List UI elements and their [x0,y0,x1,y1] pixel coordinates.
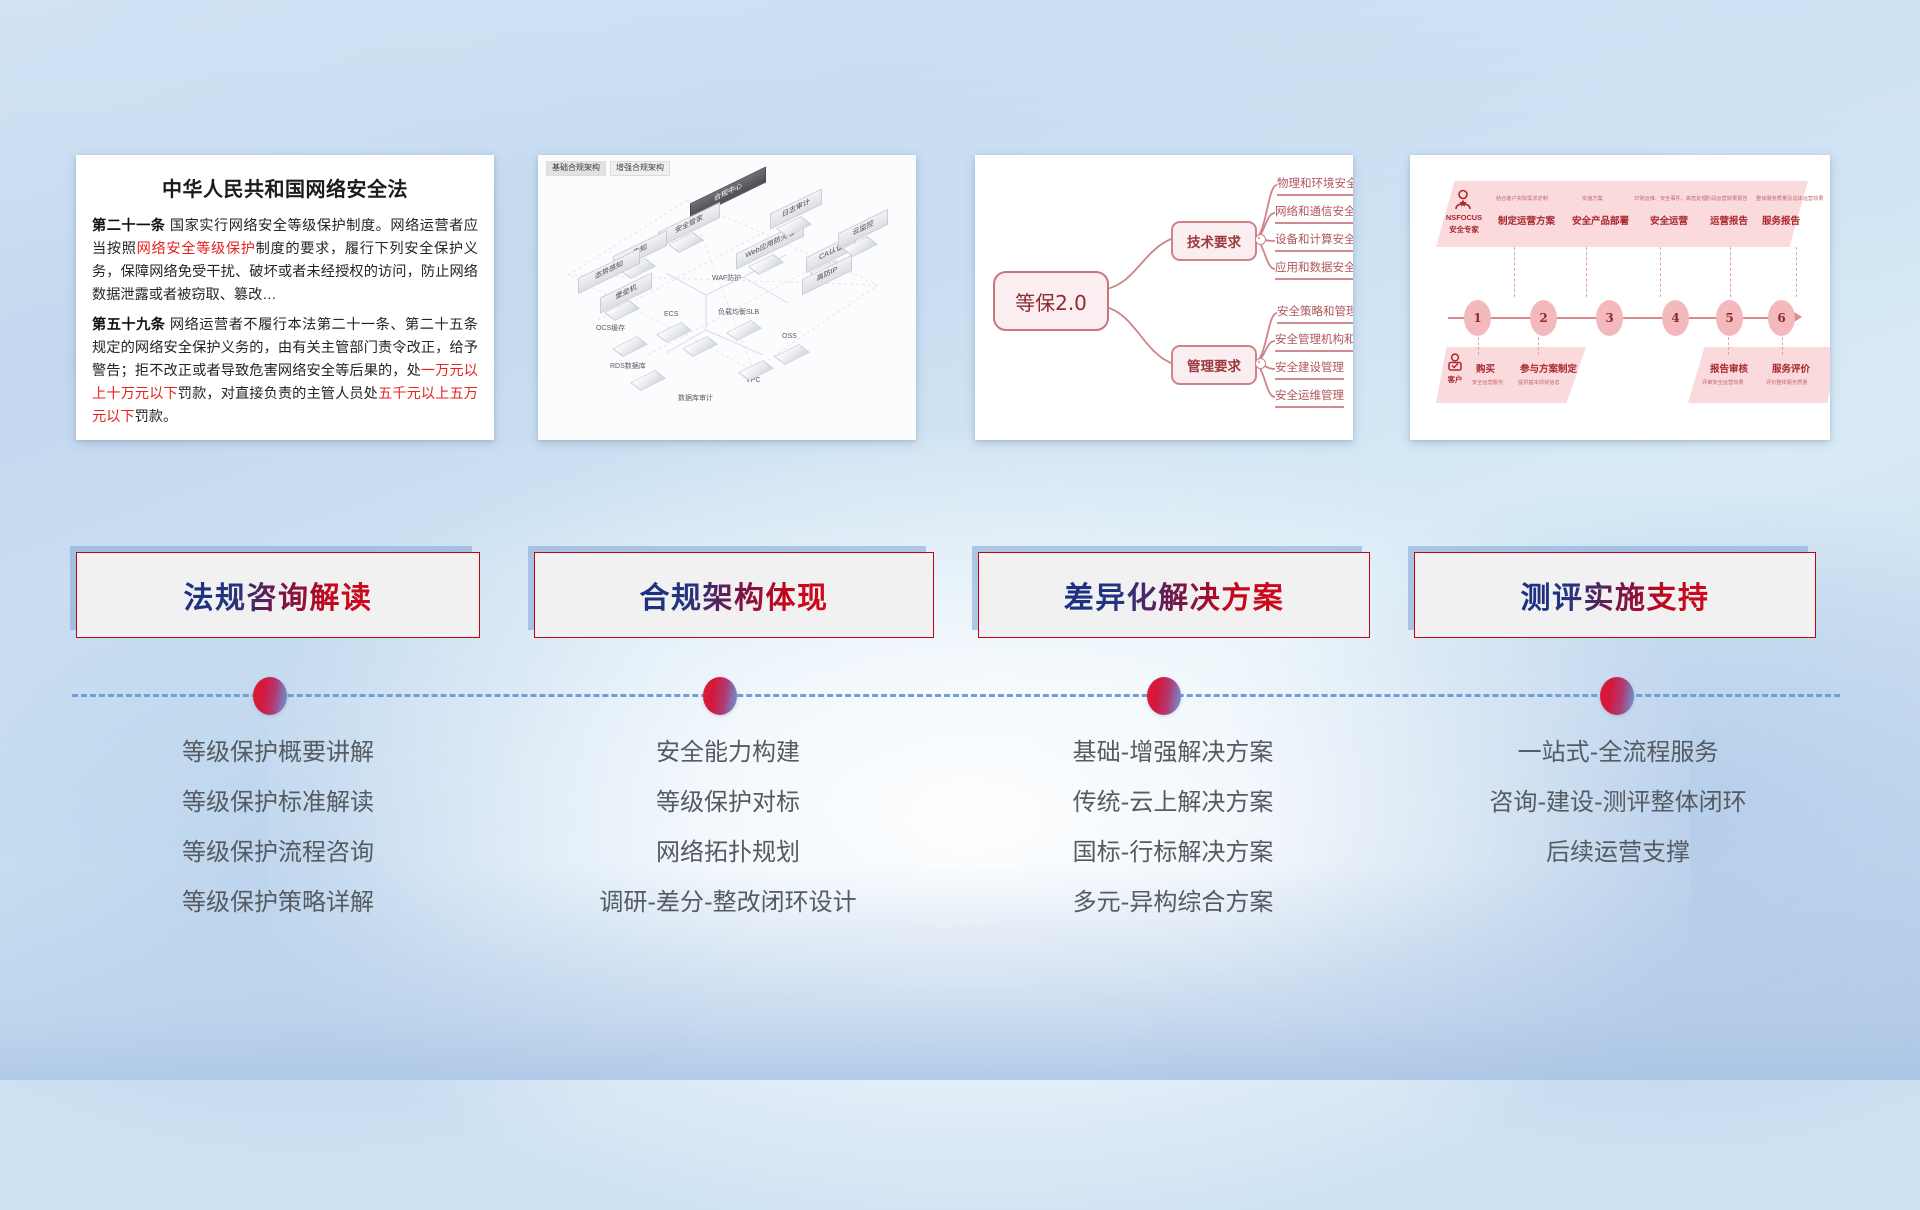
customer-avatar-icon [1446,353,1464,371]
nsfocus-bottom-title-2[interactable]: 参与方案制定 [1520,361,1577,375]
headline-label-1: 法规咨询解读 [184,573,373,617]
list-item[interactable]: 等级保护概要讲解 [60,740,496,764]
mindmap-branch-technical[interactable]: 技术要求 [1171,221,1257,261]
nsfocus-dash-3 [1586,247,1588,297]
list-item[interactable]: 等级保护流程咨询 [60,840,496,864]
arch-node-slb[interactable]: 负载均衡SLB [718,307,759,317]
mindmap-leaf-construction-mgmt[interactable]: 安全建设管理 [1275,359,1344,380]
law-document-card[interactable]: 中华人民共和国网络安全法 第二十一条 国家实行网络安全等级保护制度。网络运营者应… [76,155,494,440]
nsfocus-top-title-3[interactable]: 安全运营 [1650,213,1688,227]
law-document-title: 中华人民共和国网络安全法 [92,173,478,202]
nsfocus-bottom-title-1[interactable]: 购买 [1476,361,1495,375]
headline-box-compliance-architecture[interactable]: 合规架构体现 [534,552,934,638]
nsfocus-timeline-card[interactable]: NSFOCUS 安全专家 结合客户实际需求定制 制定运营方案 实施方案 安全产品… [1410,155,1830,440]
mindmap-leaf-org-personnel[interactable]: 安全管理机构和人员 [1275,331,1353,352]
nsfocus-dash-b3 [1728,337,1730,355]
mindmap-expander-management[interactable] [1255,358,1266,369]
list-item[interactable]: 安全能力构建 [510,740,946,764]
architecture-diagram-card[interactable]: 基础合规架构 增强合规架构 [538,155,916,440]
mindmap-root-node[interactable]: 等保2.0 [993,271,1109,331]
nsfocus-bottom-sub-4: 评价整体服务质量 [1766,379,1808,386]
nsfocus-top-sub-4: 阶段运营效果报告 [1706,195,1748,202]
list-item[interactable]: 等级保护对标 [510,790,946,814]
law-document-body: 中华人民共和国网络安全法 第二十一条 国家实行网络安全等级保护制度。网络运营者应… [76,155,494,440]
nsfocus-bottom-sub-3: 评审安全运营效果 [1702,379,1744,386]
list-item[interactable]: 等级保护标准解读 [60,790,496,814]
law-article-59-number: 第五十九条 [92,317,165,333]
nsfocus-top-title-1[interactable]: 制定运营方案 [1498,213,1555,227]
feature-column-4: 一站式-全流程服务 咨询-建设-测评整体闭环 后续运营支撑 [1400,740,1836,890]
list-item[interactable]: 传统-云上解决方案 [955,790,1391,814]
nsfocus-dash-b1 [1478,337,1480,355]
law-article-21-highlight: 网络安全等级保护 [137,241,256,257]
nsfocus-bottom-title-3[interactable]: 报告审核 [1710,361,1748,375]
nsfocus-step-6[interactable]: 6 [1768,300,1795,336]
nsfocus-dash-5 [1730,247,1732,297]
arch-node-oss[interactable]: OSS [782,333,797,340]
list-item[interactable]: 咨询-建设-测评整体闭环 [1400,790,1836,814]
mindmap-leaf-application-data[interactable]: 应用和数据安全 [1275,259,1353,280]
mindmap-leaf-device-computing[interactable]: 设备和计算安全 [1275,231,1353,252]
headline-box-differentiated-solution[interactable]: 差异化解决方案 [978,552,1370,638]
arch-node-ocs[interactable]: OCS缓存 [596,323,625,333]
nsfocus-step-1[interactable]: 1 [1464,300,1491,336]
nsfocus-step-5[interactable]: 5 [1716,300,1743,336]
mindmap-leaf-network-communication[interactable]: 网络和通信安全 [1275,203,1353,224]
nsfocus-brand: NSFOCUS [1442,213,1486,222]
headline-label-3: 差异化解决方案 [1064,573,1285,617]
law-article-21: 第二十一条 国家实行网络安全等级保护制度。网络运营者应当按照网络安全等级保护制度… [92,215,478,307]
law-article-59-post: 罚款。 [135,409,178,425]
list-item[interactable]: 网络拓扑规划 [510,840,946,864]
list-item[interactable]: 基础-增强解决方案 [955,740,1391,764]
nsfocus-dash-b2 [1538,337,1540,355]
nsfocus-top-title-4[interactable]: 运营报告 [1710,213,1748,227]
list-item[interactable]: 等级保护策略详解 [60,890,496,914]
list-item[interactable]: 国标-行标解决方案 [955,840,1391,864]
arch-node-waf-protect[interactable]: WAF防护 [712,273,741,283]
nsfocus-dash-6 [1796,247,1798,297]
nsfocus-canvas: NSFOCUS 安全专家 结合客户实际需求定制 制定运营方案 实施方案 安全产品… [1410,155,1830,440]
law-article-21-number: 第二十一条 [92,218,165,234]
list-item[interactable]: 一站式-全流程服务 [1400,740,1836,764]
list-item[interactable]: 后续运营支撑 [1400,840,1836,864]
feature-column-3: 基础-增强解决方案 传统-云上解决方案 国标-行标解决方案 多元-异构综合方案 [955,740,1391,940]
nsfocus-top-title-2[interactable]: 安全产品部署 [1572,213,1629,227]
arch-node-db-audit[interactable]: 数据库审计 [678,393,713,403]
nsfocus-top-sub-1: 结合客户实际需求定制 [1496,195,1548,202]
nsfocus-dash-4 [1660,247,1662,297]
timeline-dot-2[interactable] [703,677,737,715]
nsfocus-dash-2 [1514,247,1516,297]
mindmap-leaf-policy-system[interactable]: 安全策略和管理制度 [1277,303,1353,324]
nsfocus-step-4[interactable]: 4 [1662,300,1689,336]
mindmap-leaf-physical-environment[interactable]: 物理和环境安全 [1277,175,1353,196]
mindmap-expander-technical[interactable] [1255,234,1266,245]
mindmap-canvas: 等保2.0 技术要求 物理和环境安全 网络和通信安全 设备和计算安全 应用和数据… [975,155,1353,440]
mindmap-leaf-operations-mgmt[interactable]: 安全运维管理 [1275,387,1344,408]
mindmap-card[interactable]: 等保2.0 技术要求 物理和环境安全 网络和通信安全 设备和计算安全 应用和数据… [975,155,1353,440]
feature-column-2: 安全能力构建 等级保护对标 网络拓扑规划 调研-差分-整改闭环设计 [510,740,946,940]
nsfocus-customer-band-right [1688,347,1830,403]
mindmap-branch-management[interactable]: 管理要求 [1171,345,1257,385]
nsfocus-top-sub-3: 日常运维、安全事件、高危处理 [1634,195,1707,202]
architecture-canvas: 基础合规架构 增强合规架构 [538,155,916,440]
headline-label-4: 测评实施支持 [1521,573,1710,617]
nsfocus-step-3[interactable]: 3 [1596,300,1623,336]
list-item[interactable]: 多元-异构综合方案 [955,890,1391,914]
timeline-dashed-line [72,694,1840,697]
expert-avatar-icon [1452,189,1474,211]
headline-label-2: 合规架构体现 [640,573,829,617]
nsfocus-bottom-title-4[interactable]: 服务评价 [1772,361,1810,375]
nsfocus-bottom-sub-2: 提供基本现状信息 [1518,379,1560,386]
nsfocus-customer-label: 客户 [1440,375,1470,384]
list-item[interactable]: 调研-差分-整改闭环设计 [510,890,946,914]
nsfocus-top-title-5[interactable]: 服务报告 [1762,213,1800,227]
nsfocus-top-sub-5: 整体服务质量及总体运营效果 [1756,195,1823,202]
nsfocus-bottom-sub-1: 安全运营服务 [1472,379,1503,386]
feature-column-1: 等级保护概要讲解 等级保护标准解读 等级保护流程咨询 等级保护策略详解 [60,740,496,940]
timeline-dot-3[interactable] [1147,677,1181,715]
nsfocus-dash-b4 [1782,337,1784,355]
arch-node-rds[interactable]: RDS数据库 [610,361,646,371]
nsfocus-timeline-arrow-icon [1794,312,1802,322]
law-article-59: 第五十九条 网络运营者不履行本法第二十一条、第二十五条规定的网络安全保护义务的，… [92,314,478,429]
nsfocus-top-sub-2: 实施方案 [1582,195,1603,202]
headline-box-assessment-support[interactable]: 测评实施支持 [1414,552,1816,638]
nsfocus-step-2[interactable]: 2 [1530,300,1557,336]
law-article-59-mid: 罚款，对直接负责的主管人员处 [178,386,378,402]
headline-box-regulation-consulting[interactable]: 法规咨询解读 [76,552,480,638]
arch-node-ecs[interactable]: ECS [664,311,678,318]
nsfocus-brand-sub: 安全专家 [1442,225,1486,234]
timeline-dot-4[interactable] [1600,677,1634,715]
timeline-dot-1[interactable] [253,677,287,715]
